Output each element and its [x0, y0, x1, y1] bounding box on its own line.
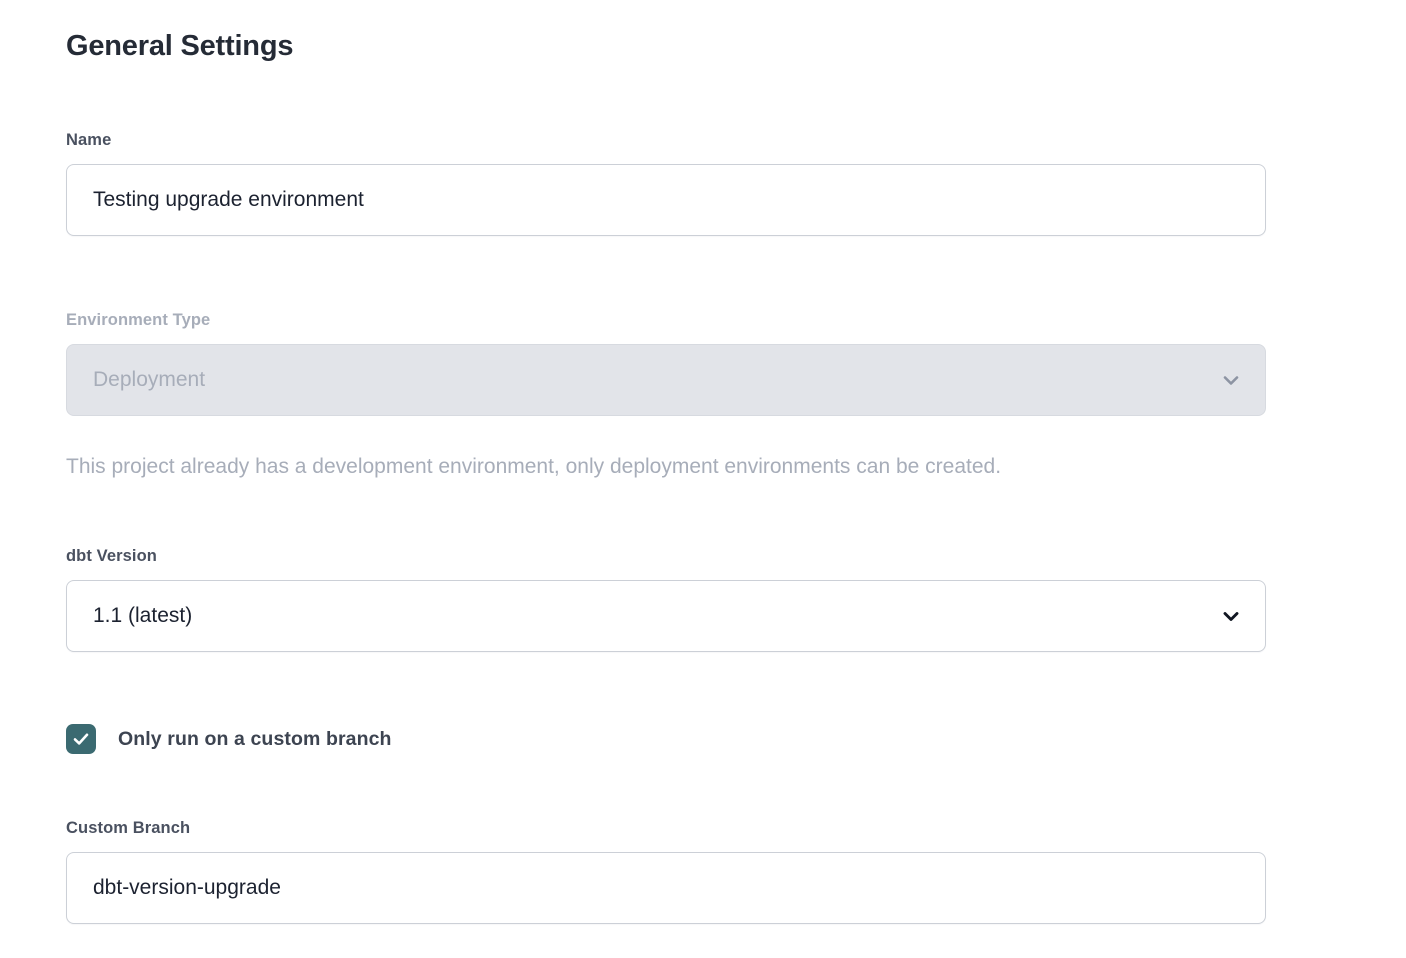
environment-type-select: Deployment — [66, 344, 1266, 416]
dbt-version-field-group: dbt Version 1.1 (latest) — [66, 546, 1266, 652]
dbt-version-select-wrap: 1.1 (latest) — [66, 580, 1266, 652]
name-input[interactable] — [66, 164, 1266, 236]
page-title: General Settings — [66, 27, 293, 65]
custom-branch-label: Custom Branch — [66, 818, 1266, 838]
check-icon — [71, 729, 91, 749]
dbt-version-label: dbt Version — [66, 546, 1266, 566]
environment-type-label: Environment Type — [66, 310, 1266, 330]
general-settings-page: General Settings Name Environment Type D… — [0, 0, 1406, 958]
environment-type-helper-text: This project already has a development e… — [66, 454, 1001, 480]
environment-type-select-wrap: Deployment — [66, 344, 1266, 416]
dbt-version-select[interactable]: 1.1 (latest) — [66, 580, 1266, 652]
name-field-group: Name — [66, 130, 1266, 236]
name-label: Name — [66, 130, 1266, 150]
custom-branch-field-group: Custom Branch — [66, 818, 1266, 924]
only-run-on-custom-branch-checkbox-row[interactable]: Only run on a custom branch — [66, 724, 392, 754]
dbt-version-value: 1.1 (latest) — [93, 604, 192, 628]
checkbox-checked[interactable] — [66, 724, 96, 754]
only-run-on-custom-branch-label: Only run on a custom branch — [118, 727, 392, 751]
custom-branch-input[interactable] — [66, 852, 1266, 924]
environment-type-field-group: Environment Type Deployment — [66, 310, 1266, 416]
environment-type-value: Deployment — [93, 368, 205, 392]
